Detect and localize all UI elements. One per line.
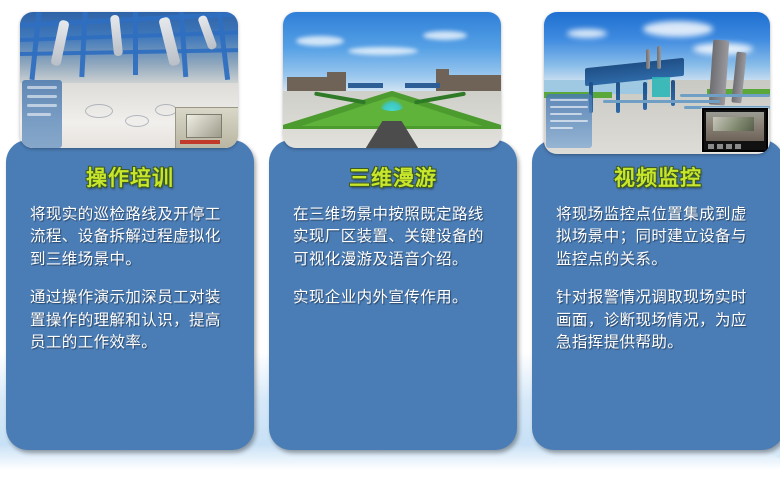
feature-card-video-monitoring[interactable]: 视频监控 将现场监控点位置集成到虚拟场景中；同时建立设备与监控点的关系。 针对报… [532, 0, 780, 462]
video-monitor-inset[interactable] [702, 108, 768, 152]
card-body: 在三维场景中按照既定路线实现厂区装置、关键设备的可视化漫游及语音介绍。 实现企业… [287, 204, 499, 310]
card-title: 三维漫游 [287, 162, 499, 192]
card-paragraph: 针对报警情况调取现场实时画面，诊断现场情况，为应急指挥提供帮助。 [556, 287, 760, 354]
scene-ui-panel [546, 94, 592, 148]
card-paragraph: 将现实的巡检路线及开停工流程、设备拆解过程虚拟化到三维场景中。 [30, 204, 230, 271]
feature-card-list: 操作培训 将现实的巡检路线及开停工流程、设备拆解过程虚拟化到三维场景中。 通过操… [0, 0, 780, 491]
plant-plaza-3d-scene[interactable] [283, 12, 501, 148]
card-title: 视频监控 [550, 162, 766, 192]
card-panel: 视频监控 将现场监控点位置集成到虚拟场景中；同时建立设备与监控点的关系。 针对报… [532, 140, 780, 450]
card-panel: 三维漫游 在三维场景中按照既定路线实现厂区装置、关键设备的可视化漫游及语音介绍。… [269, 140, 517, 450]
card-paragraph: 在三维场景中按照既定路线实现厂区装置、关键设备的可视化漫游及语音介绍。 [293, 204, 493, 271]
card-paragraph: 通过操作演示加深员工对装置操作的理解和认识，提高员工的工作效率。 [30, 287, 230, 354]
plant-video-monitoring-3d-scene[interactable] [544, 12, 770, 154]
feature-card-3d-roaming[interactable]: 三维漫游 在三维场景中按照既定路线实现厂区装置、关键设备的可视化漫游及语音介绍。… [269, 0, 517, 462]
feature-card-operation-training[interactable]: 操作培训 将现实的巡检路线及开停工流程、设备拆解过程虚拟化到三维场景中。 通过操… [6, 0, 254, 462]
card-panel: 操作培训 将现实的巡检路线及开停工流程、设备拆解过程虚拟化到三维场景中。 通过操… [6, 140, 254, 450]
card-body: 将现实的巡检路线及开停工流程、设备拆解过程虚拟化到三维场景中。 通过操作演示加深… [24, 204, 236, 355]
indoor-pipe-hall-3d-scene[interactable] [20, 12, 238, 148]
card-paragraph: 将现场监控点位置集成到虚拟场景中；同时建立设备与监控点的关系。 [556, 204, 760, 271]
card-paragraph: 实现企业内外宣传作用。 [293, 287, 493, 309]
scene-equipment-inset [175, 107, 238, 148]
card-body: 将现场监控点位置集成到虚拟场景中；同时建立设备与监控点的关系。 针对报警情况调取… [550, 204, 766, 355]
scene-ui-panel [22, 80, 62, 148]
card-title: 操作培训 [24, 162, 236, 192]
